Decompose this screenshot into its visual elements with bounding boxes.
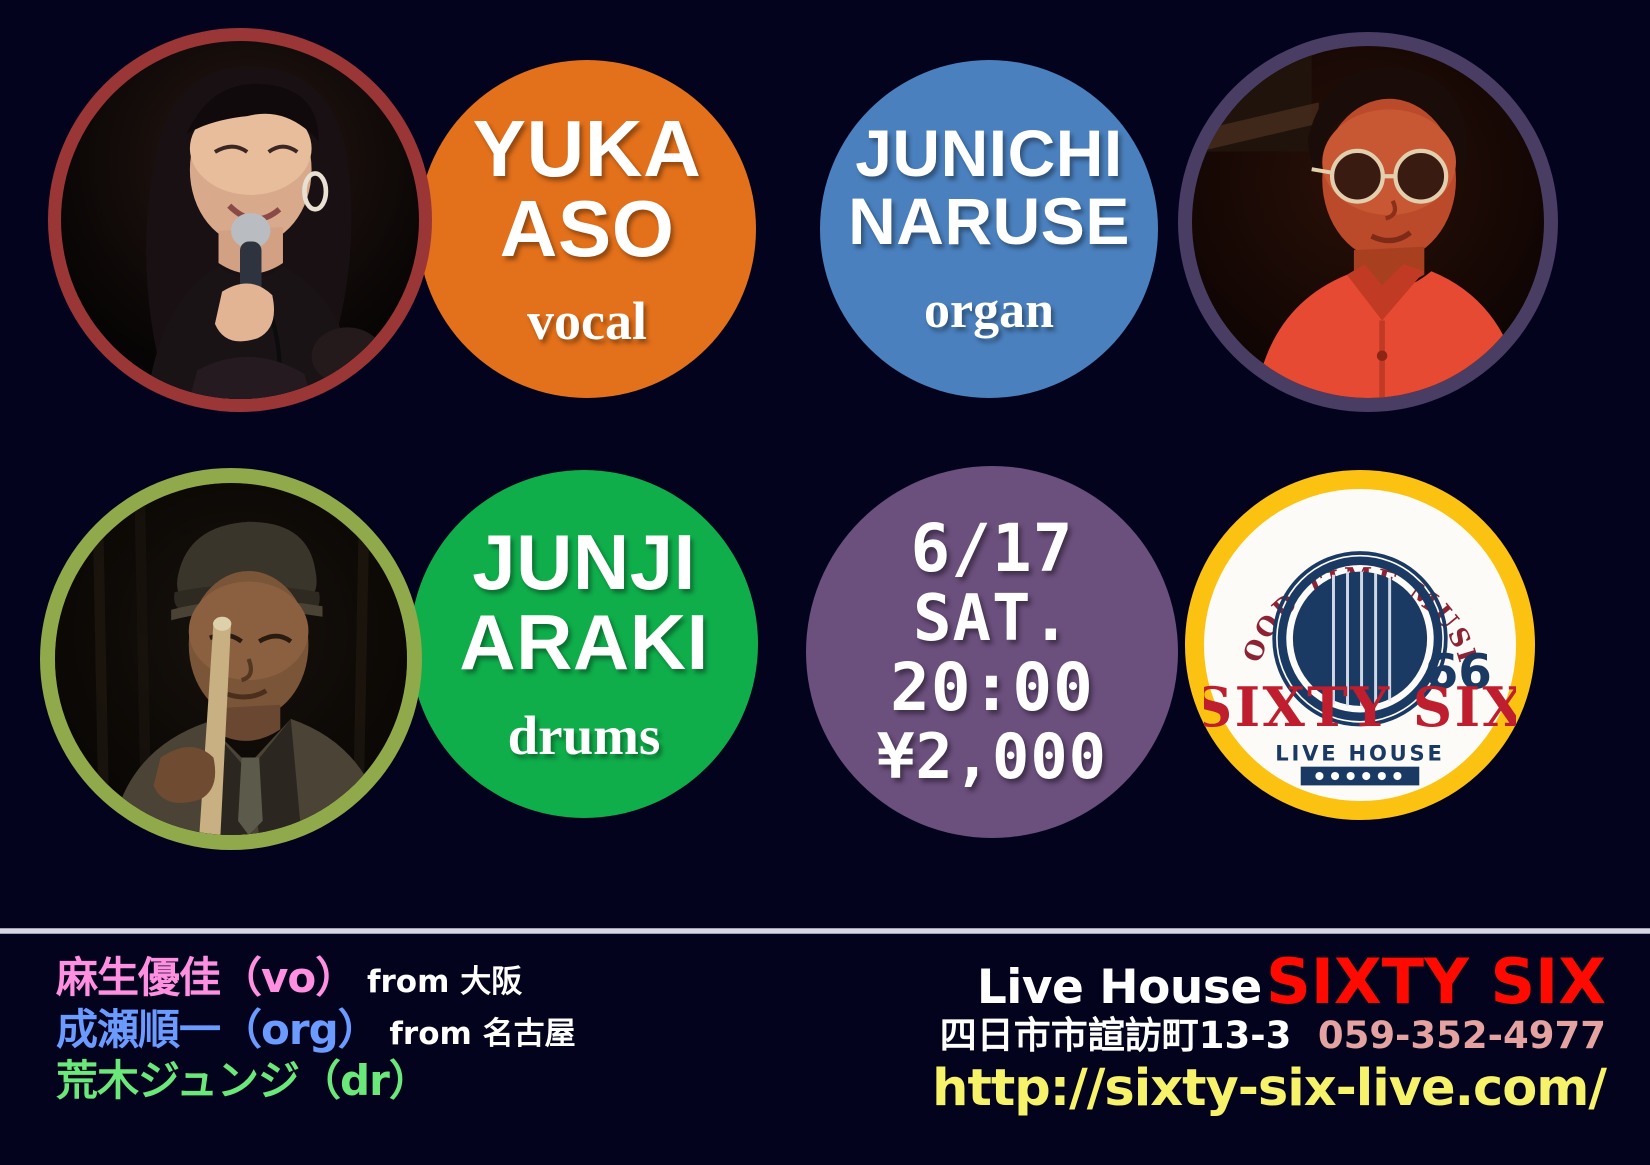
performer-name-circle-junji-araki: JUNJI ARAKI drums <box>410 470 758 818</box>
venue-title-row: Live House SIXTY SIX <box>932 949 1606 1014</box>
performer-name-line2-junichi: NARUSE <box>848 189 1130 253</box>
performer-name-line1-yuka: YUKA <box>473 110 702 188</box>
performer-name-line2-junji: ARAKI <box>459 605 709 681</box>
logo-main-text: SIXTY SIX <box>1204 675 1516 739</box>
photo-clip-junichi <box>1192 46 1544 398</box>
member-credit-row: 成瀬順一（org） from 名古屋 <box>56 1005 576 1055</box>
sixty-six-logo: GOOD TIME MUSIC 66 SIXTY SIX LIVE HOUSE <box>1185 470 1535 820</box>
performer-name-line1-junji: JUNJI <box>472 525 696 601</box>
performer-name-circle-junichi-naruse: JUNICHI NARUSE organ <box>820 60 1158 398</box>
performer-role-junichi: organ <box>924 285 1054 337</box>
performer-photo-yuka-aso <box>48 28 432 412</box>
logo-sub-text: LIVE HOUSE <box>1275 740 1444 765</box>
venue-phone: 059-352-4977 <box>1318 1014 1606 1057</box>
member-credit-row: 荒木ジュンジ（dr） <box>56 1056 576 1106</box>
member-name-organ: 成瀬順一（org） <box>56 1005 379 1054</box>
performer-photo-junji-araki <box>40 468 422 850</box>
photo-clip-junji <box>55 483 407 835</box>
member-credit-row: 麻生優佳（vo） from 大阪 <box>56 953 576 1003</box>
event-price: ¥2,000 <box>877 724 1107 790</box>
event-date: 6/17 <box>911 514 1074 585</box>
member-credits-list: 麻生優佳（vo） from 大阪 成瀬順一（org） from 名古屋 荒木ジュ… <box>56 953 576 1108</box>
photo-image-yuka <box>61 41 419 399</box>
venue-address-row: 四日市市諠訪町13-3 059-352-4977 <box>932 1016 1606 1057</box>
member-name-vocal: 麻生優佳（vo） <box>56 953 356 1002</box>
flyer-footer: 麻生優佳（vo） from 大阪 成瀬順一（org） from 名古屋 荒木ジュ… <box>0 935 1650 1165</box>
photo-image-junji <box>55 483 407 835</box>
performer-photo-junichi-naruse <box>1178 32 1558 412</box>
performer-name-line2-yuka: ASO <box>500 190 675 268</box>
venue-address: 四日市市諠訪町13-3 <box>940 1014 1292 1057</box>
concert-flyer: YUKA ASO vocal <box>0 0 1650 1165</box>
member-from-organ: from 名古屋 <box>379 1016 576 1052</box>
logo-artwork: GOOD TIME MUSIC 66 SIXTY SIX LIVE HOUSE <box>1204 489 1516 801</box>
photo-image-junichi <box>1192 46 1544 398</box>
event-time: 20:00 <box>890 653 1094 724</box>
member-from-vocal: from 大阪 <box>356 964 522 1000</box>
performer-role-junji: drums <box>508 708 661 763</box>
event-date-circle: 6/17 SAT. 20:00 ¥2,000 <box>806 466 1178 838</box>
venue-info: Live House SIXTY SIX 四日市市諠訪町13-3 059-352… <box>932 949 1606 1117</box>
performer-role-yuka: vocal <box>527 294 647 348</box>
section-divider <box>0 928 1650 934</box>
performer-name-circle-yuka-aso: YUKA ASO vocal <box>418 60 756 398</box>
event-day: SAT. <box>913 585 1071 653</box>
performer-name-line1-junichi: JUNICHI <box>855 121 1123 185</box>
venue-name: SIXTY SIX <box>1266 945 1606 1018</box>
member-name-drums: 荒木ジュンジ（dr） <box>56 1056 430 1105</box>
photo-clip-yuka <box>61 41 419 399</box>
venue-url[interactable]: http://sixty-six-live.com/ <box>932 1061 1606 1117</box>
venue-live-house-label: Live House <box>977 960 1262 1015</box>
